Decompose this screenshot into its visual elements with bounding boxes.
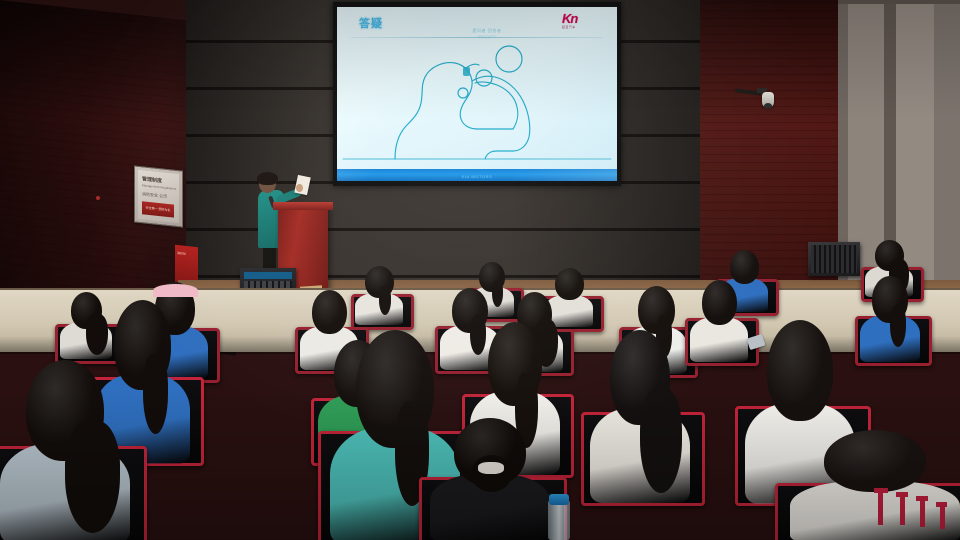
attendee-row3-e (690, 280, 748, 360)
fire-cabinet-label: 消防栓 (177, 251, 186, 256)
slide-title: 答疑 (359, 15, 383, 31)
attendee-hairband (153, 284, 198, 297)
attendee-head (730, 250, 759, 284)
attendee-row3-f (860, 276, 920, 360)
wall-indicator-light (96, 196, 100, 200)
attendee-hair-tie (478, 462, 504, 474)
bubble-blower-line-art (337, 33, 617, 161)
slide-footer-bar: KIA MOTORS (337, 169, 617, 181)
podium-top (273, 202, 333, 210)
presenter-hair (257, 172, 278, 185)
attendee-black-hairband (430, 418, 550, 540)
logo-sub-text: 起亚汽车 (562, 25, 610, 29)
monitor-top-strip (244, 272, 292, 279)
wall-sign-line3: 消防安全 公示 (142, 191, 167, 200)
projection-screen: 答疑 提问者 回答者 现场互动环节 Kn 起亚汽车 (333, 2, 621, 186)
auditorium-photo: 管理制度 Management Regulations 消防安全 公示 安全第一… (0, 0, 960, 540)
wall-notice-sign: 管理制度 Management Regulations 消防安全 公示 安全第一… (134, 165, 183, 227)
attendee-ponytail (65, 421, 120, 533)
water-bottle-cap (549, 494, 569, 505)
hall-loudspeaker (808, 242, 860, 276)
attendee-white-right (590, 330, 690, 500)
attendee-back-left-darkhair (0, 360, 130, 540)
logo-mark-text: Kn (562, 13, 610, 25)
slide-surface: 答疑 提问者 回答者 现场互动环节 Kn 起亚汽车 (337, 7, 617, 181)
pillar-top-edge (838, 0, 960, 4)
attendee-head (702, 280, 737, 325)
tshirt-red-print (866, 478, 952, 530)
camera-lens (764, 103, 772, 109)
presenter-hand (296, 184, 303, 192)
attendee-head (312, 290, 347, 334)
loudspeaker-grill (811, 245, 857, 273)
attendee-ponytail (640, 388, 682, 493)
wall-sign-line2: Management Regulations (142, 183, 176, 191)
wall-sign-banner: 安全第一 预防为主 (142, 201, 174, 217)
attendee-row4-b (355, 266, 403, 324)
water-bottle (548, 500, 570, 540)
attendee-head (767, 320, 833, 421)
attendee-ponytail (379, 286, 391, 315)
attendee-ponytail (890, 305, 906, 347)
wall-notice-inner: 管理制度 Management Regulations 消防安全 公示 安全第一… (138, 170, 179, 223)
attendee-ponytail (143, 354, 168, 434)
slide-footer-text: KIA MOTORS (337, 174, 617, 179)
wall-sign-banner-text: 安全第一 预防为主 (142, 201, 174, 217)
kia-logo: Kn 起亚汽车 (562, 13, 610, 35)
